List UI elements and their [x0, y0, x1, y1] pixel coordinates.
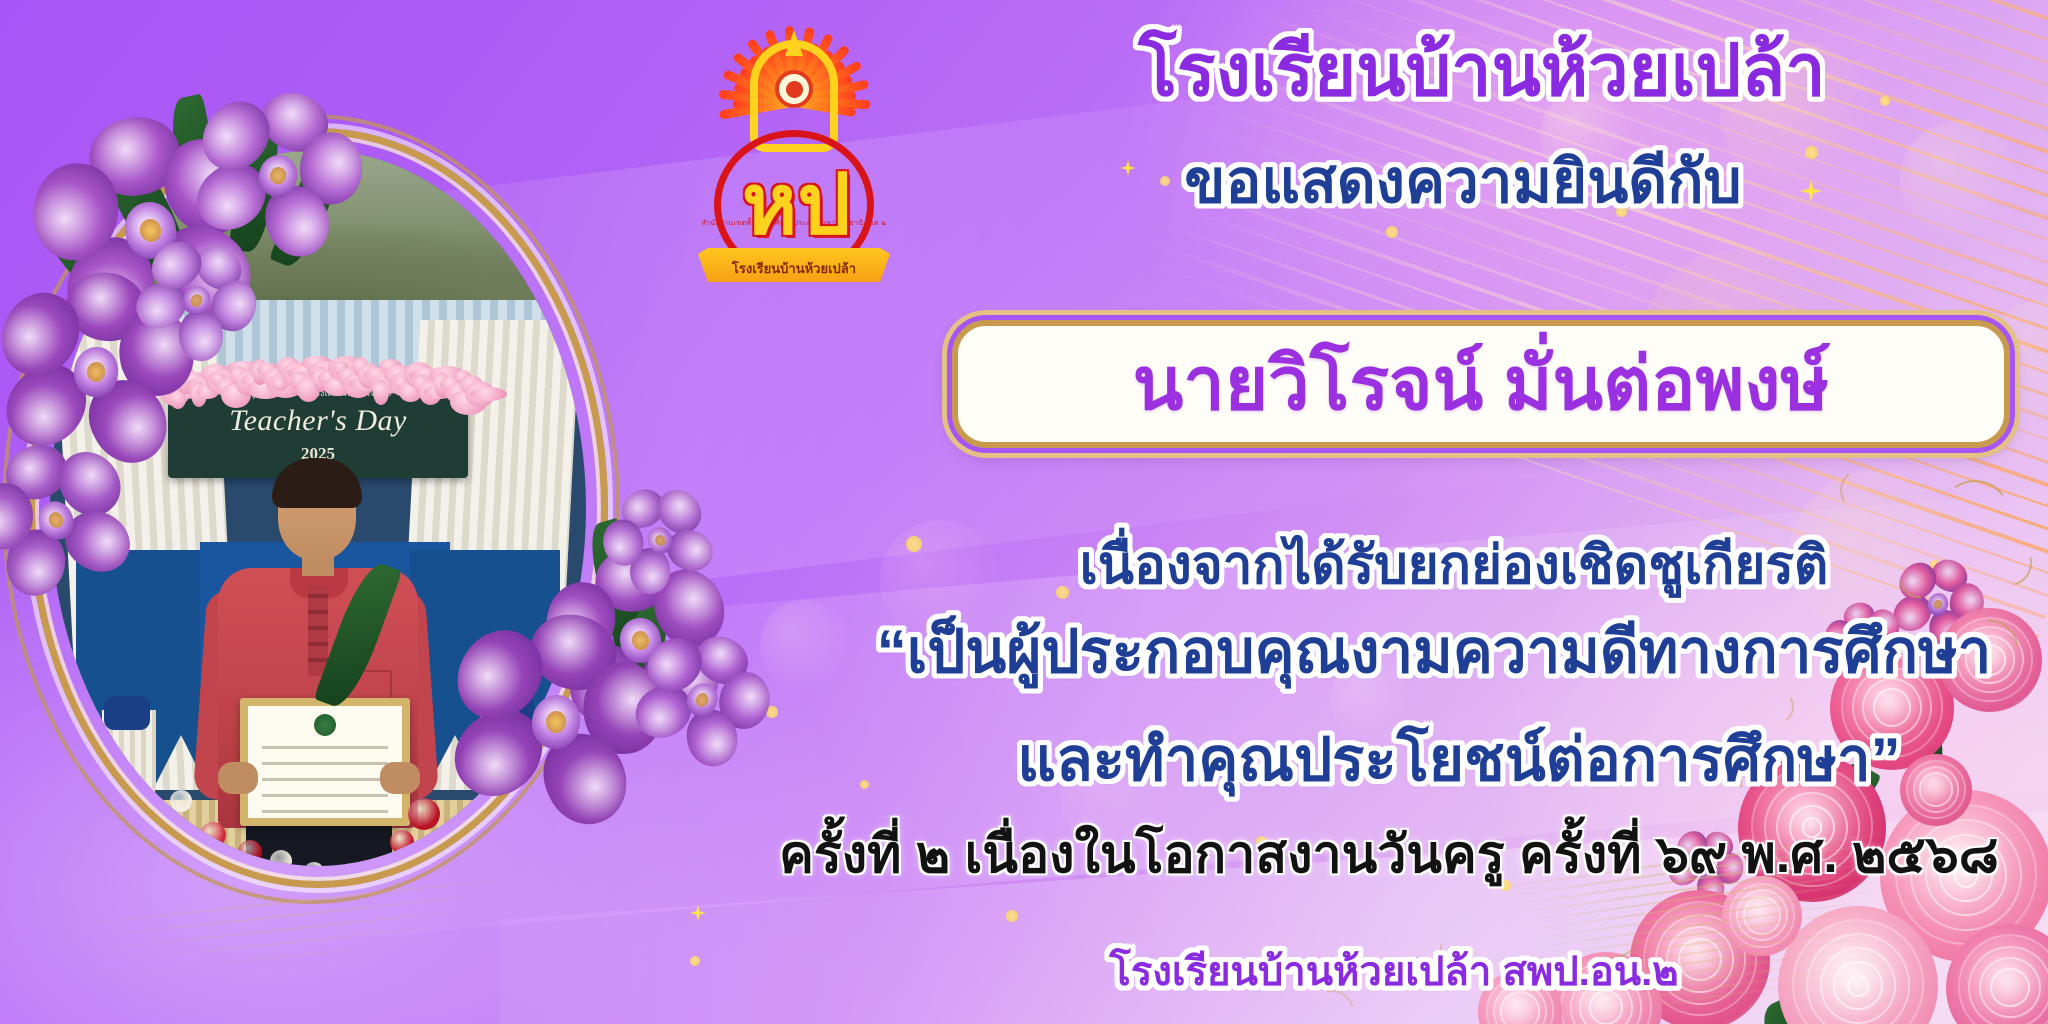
honoree-photograph: ครูไทยก้าวไกล สร้างเด็กไทยหัวใจใหม่ Teac… — [50, 150, 586, 866]
honoree-name-box: นายวิโรจน์ มั่นต่อพงษ์ — [952, 320, 2010, 448]
photo-trousers — [246, 822, 392, 866]
photo-frame: ครูไทยก้าวไกล สร้างเด็กไทยหัวใจใหม่ Teac… — [28, 128, 608, 888]
photo-flower-garland — [150, 346, 490, 408]
award-quote-line-1: “เป็นผู้ประกอบคุณงามความดีทางการศึกษา — [840, 620, 2028, 683]
photo-right-hand — [380, 762, 420, 794]
dharma-wheel-icon — [775, 70, 813, 108]
sign-title: Teacher's Day — [168, 404, 468, 438]
congratulations-heading: ขอแสดงความยินดีกับ — [930, 150, 1996, 213]
footer-organization: โรงเรียนบ้านห้วยเปล้า สพป.อน.๒ — [740, 950, 2048, 994]
award-quote-line-2: และทำคุณประโยชน์ต่อการศึกษา” — [910, 728, 2008, 791]
logo-ribbon-text: โรงเรียนบ้านห้วยเปล้า — [694, 258, 894, 279]
congratulations-banner: ครูไทยก้าวไกล สร้างเด็กไทยหัวใจใหม่ Teac… — [0, 0, 2048, 1024]
text-content-column: โรงเรียนบ้านห้วยเปล้า ขอแสดงความยินดีกับ… — [930, 0, 2048, 1024]
photo-shirt-placket — [308, 586, 328, 676]
photo-left-hand — [218, 762, 258, 794]
school-name-heading: โรงเรียนบ้านห้วยเปล้า — [930, 34, 2034, 110]
photo-certificate — [240, 698, 410, 826]
honoree-name: นายวิโรจน์ มั่นต่อพงษ์ — [1133, 347, 1830, 421]
photo-ribbon-left — [104, 696, 150, 730]
school-logo: สำนักงานเขตพื้นที่การศึกษาประถมศึกษาอุทั… — [694, 12, 894, 297]
certificate-seal — [314, 714, 336, 736]
photo-ribbon-right — [488, 696, 534, 730]
occasion-line: ครั้งที่ ๒ เนื่องในโอกาสงานวันครู ครั้งท… — [730, 828, 2048, 883]
logo-monogram: หป — [742, 158, 846, 254]
award-reason-line: เนื่องจากได้รับยกย่องเชิดชูเกียรติ — [930, 538, 1978, 594]
